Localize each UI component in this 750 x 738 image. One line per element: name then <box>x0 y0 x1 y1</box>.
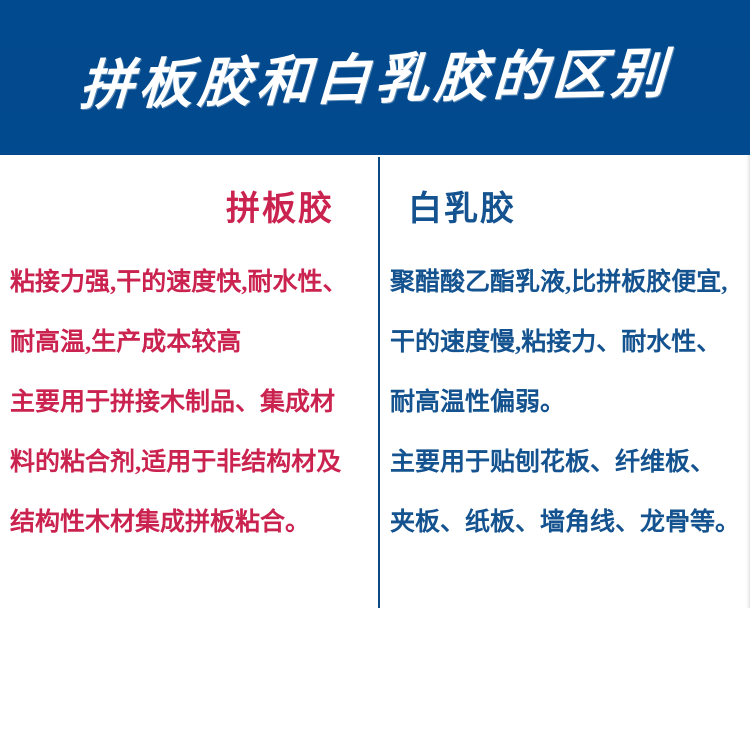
page-title: 拼板胶和白乳胶的区别 <box>0 0 750 155</box>
body-line: 干的速度慢,粘接力、耐水性、 <box>390 313 742 373</box>
body-line: 主要用于拼接木制品、集成材 <box>10 373 358 433</box>
column-heading-right: 白乳胶 <box>408 193 742 227</box>
column-left-pinbanjiao: 拼板胶 粘接力强,干的速度快,耐水性、 耐高温,生产成本较高 主要用于拼接木制品… <box>0 155 378 610</box>
body-line: 耐高温性偏弱。 <box>390 373 742 433</box>
bottom-white-fill <box>0 670 750 738</box>
body-line: 夹板、纸板、墙角线、龙骨等。 <box>390 493 742 553</box>
header-banner: 拼板胶和白乳胶的区别 <box>0 0 750 155</box>
body-line: 结构性木材集成拼板粘合。 <box>10 493 358 553</box>
column-left-body: 粘接力强,干的速度快,耐水性、 耐高温,生产成本较高 主要用于拼接木制品、集成材… <box>10 253 358 553</box>
comparison-section: 拼板胶 粘接力强,干的速度快,耐水性、 耐高温,生产成本较高 主要用于拼接木制品… <box>0 155 750 610</box>
column-right-body: 聚醋酸乙酯乳液,比拼板胶便宜, 干的速度慢,粘接力、耐水性、 耐高温性偏弱。 主… <box>390 253 742 553</box>
body-line: 料的粘合剂,适用于非结构材及 <box>10 433 358 493</box>
body-line: 粘接力强,干的速度快,耐水性、 <box>10 253 358 313</box>
body-line: 聚醋酸乙酯乳液,比拼板胶便宜, <box>390 253 742 313</box>
column-heading-left: 拼板胶 <box>10 193 334 227</box>
body-line: 耐高温,生产成本较高 <box>10 313 358 373</box>
product-comparison-graphic: 拼板胶和白乳胶的区别 拼板胶 粘接力强,干的速度快,耐水性、 耐高温,生产成本较… <box>0 0 750 738</box>
right-edge-rule <box>746 155 750 610</box>
column-right-bairujiao: 白乳胶 聚醋酸乙酯乳液,比拼板胶便宜, 干的速度慢,粘接力、耐水性、 耐高温性偏… <box>380 155 750 610</box>
body-line: 主要用于贴刨花板、纤维板、 <box>390 433 742 493</box>
